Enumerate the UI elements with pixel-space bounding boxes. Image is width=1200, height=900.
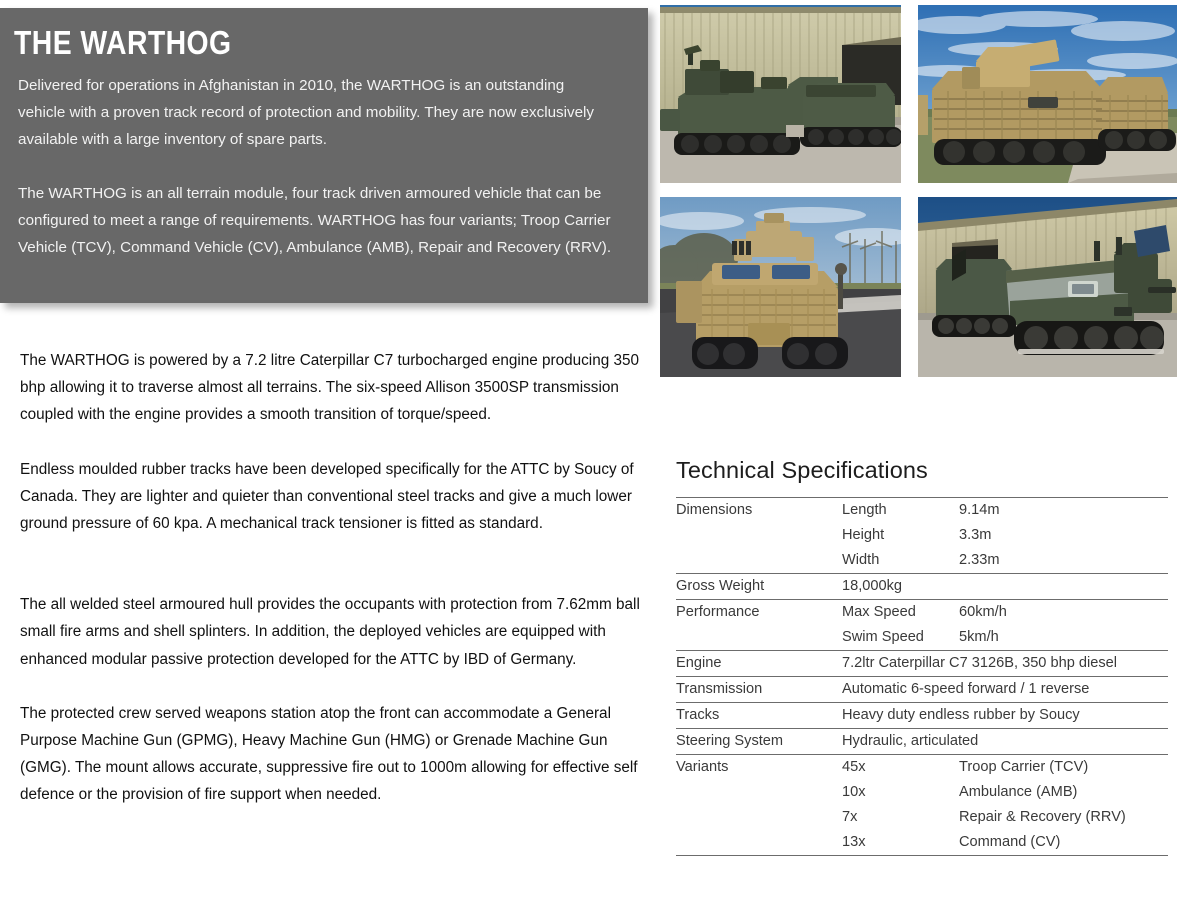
photo-green-warthog-front-quarter-hangar[interactable] xyxy=(918,197,1177,377)
table-row: Transmission Automatic 6-speed forward /… xyxy=(676,677,1168,703)
spec-label-engine: Engine xyxy=(676,651,842,677)
table-row: 7x Repair & Recovery (RRV) xyxy=(676,805,1168,830)
table-row: Tracks Heavy duty endless rubber by Souc… xyxy=(676,703,1168,729)
table-row: 13x Command (CV) xyxy=(676,830,1168,856)
technical-specifications-section: Technical Specifications Dimensions Leng… xyxy=(676,457,1168,856)
spec-value-tracks: Heavy duty endless rubber by Soucy xyxy=(842,703,1168,729)
spec-sub-swim-speed: Swim Speed xyxy=(842,625,959,651)
body-paragraph-powertrain: The WARTHOG is powered by a 7.2 litre Ca… xyxy=(20,347,656,429)
photo-green-warthog-pair-by-hangar[interactable] xyxy=(660,5,901,183)
spec-label-steering-system: Steering System xyxy=(676,729,842,755)
spec-value-width: 2.33m xyxy=(959,548,1168,574)
spec-variant-qty-cv: 13x xyxy=(842,830,959,856)
spec-variant-qty-tcv: 45x xyxy=(842,755,959,781)
table-row: Variants 45x Troop Carrier (TCV) xyxy=(676,755,1168,781)
spec-sub-length: Length xyxy=(842,498,959,524)
table-row: Performance Max Speed 60km/h xyxy=(676,600,1168,626)
table-row: Steering System Hydraulic, articulated xyxy=(676,729,1168,755)
specs-table: Dimensions Length 9.14m Height 3.3m Widt… xyxy=(676,497,1168,856)
page-title: THE WARTHOG xyxy=(14,24,542,62)
table-row: Dimensions Length 9.14m xyxy=(676,498,1168,524)
spec-label-spacer-3 xyxy=(676,625,842,651)
hero-paragraph-2: The WARTHOG is an all terrain module, fo… xyxy=(14,180,628,261)
spec-value-gross-weight: 18,000kg xyxy=(842,574,1168,600)
spec-value-swim-speed: 5km/h xyxy=(959,625,1168,651)
spec-label-tracks: Tracks xyxy=(676,703,842,729)
spec-value-steering-system: Hydraulic, articulated xyxy=(842,729,1168,755)
table-row: Height 3.3m xyxy=(676,523,1168,548)
spec-sub-width: Width xyxy=(842,548,959,574)
spec-variant-qty-rrv: 7x xyxy=(842,805,959,830)
table-row: Swim Speed 5km/h xyxy=(676,625,1168,651)
spec-variant-name-amb: Ambulance (AMB) xyxy=(959,780,1168,805)
spec-variant-name-rrv: Repair & Recovery (RRV) xyxy=(959,805,1168,830)
table-row: Gross Weight 18,000kg xyxy=(676,574,1168,600)
table-row: 10x Ambulance (AMB) xyxy=(676,780,1168,805)
spec-label-spacer-5 xyxy=(676,805,842,830)
body-paragraph-tracks: Endless moulded rubber tracks have been … xyxy=(20,456,656,538)
spec-value-max-speed: 60km/h xyxy=(959,600,1168,626)
body-paragraph-weapons: The protected crew served weapons statio… xyxy=(20,700,656,809)
spec-label-performance: Performance xyxy=(676,600,842,626)
spec-label-variants: Variants xyxy=(676,755,842,781)
spec-value-engine: 7.2ltr Caterpillar C7 3126B, 350 bhp die… xyxy=(842,651,1168,677)
spec-value-length: 9.14m xyxy=(959,498,1168,524)
spec-label-dimensions: Dimensions xyxy=(676,498,842,524)
warthog-brochure-page: THE WARTHOG Delivered for operations in … xyxy=(0,0,1200,900)
spec-label-spacer-1 xyxy=(676,523,842,548)
hero-panel: THE WARTHOG Delivered for operations in … xyxy=(0,8,648,303)
spec-label-spacer-6 xyxy=(676,830,842,856)
spec-value-height: 3.3m xyxy=(959,523,1168,548)
spec-sub-max-speed: Max Speed xyxy=(842,600,959,626)
spec-label-spacer-4 xyxy=(676,780,842,805)
spec-variant-qty-amb: 10x xyxy=(842,780,959,805)
hero-paragraph-1: Delivered for operations in Afghanistan … xyxy=(14,72,628,153)
specs-title: Technical Specifications xyxy=(676,457,1168,484)
body-paragraph-armour: The all welded steel armoured hull provi… xyxy=(20,591,656,673)
photo-tan-warthog-front-weapons-station[interactable] xyxy=(660,197,901,377)
spec-variant-name-cv: Command (CV) xyxy=(959,830,1168,856)
spec-label-spacer-2 xyxy=(676,548,842,574)
photo-gallery xyxy=(660,5,1182,377)
spec-variant-name-tcv: Troop Carrier (TCV) xyxy=(959,755,1168,781)
spec-label-gross-weight: Gross Weight xyxy=(676,574,842,600)
photo-tan-warthog-side-view-field[interactable] xyxy=(918,5,1177,183)
body-text-column: The WARTHOG is powered by a 7.2 litre Ca… xyxy=(20,347,656,809)
table-row: Width 2.33m xyxy=(676,548,1168,574)
spec-label-transmission: Transmission xyxy=(676,677,842,703)
spec-sub-height: Height xyxy=(842,523,959,548)
table-row: Engine 7.2ltr Caterpillar C7 3126B, 350 … xyxy=(676,651,1168,677)
spec-value-transmission: Automatic 6-speed forward / 1 reverse xyxy=(842,677,1168,703)
